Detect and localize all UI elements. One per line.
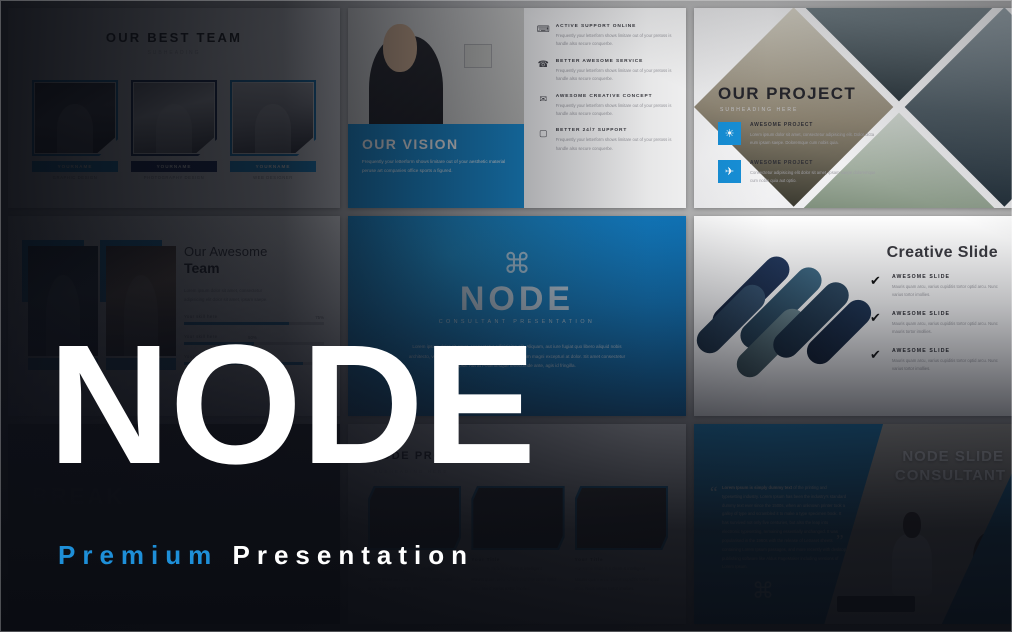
creative-body: Mauris quam arcu, varius cupiditis torto… xyxy=(892,357,998,374)
list-item[interactable]: ✈ AWESOME PROJECT Consectetur adipisicin… xyxy=(718,160,878,185)
consultant-heading-line2: CONSULTANT xyxy=(895,467,1006,484)
member-role: GRAPHIC DESIGN xyxy=(32,175,118,180)
check-icon: ✔ xyxy=(870,311,884,337)
slide-title: OUR VISION xyxy=(362,136,510,152)
list-item[interactable]: ⌨ ACTIVE SUPPORT ONLINE Frequently your … xyxy=(538,24,672,49)
tagline-main: Presentation xyxy=(233,540,475,570)
diagonal-bar-collage xyxy=(716,250,871,385)
card-heading: Awesome Slide is a clean & intelligent xyxy=(471,565,564,573)
project-card[interactable]: Your Title Awesome Slide is a clean & in… xyxy=(575,486,668,593)
member-photo xyxy=(32,80,118,156)
quote-lead: Lorem Ipsum is simply dummy text xyxy=(722,485,792,490)
slide-subtitle: SUBHEADING xyxy=(8,50,340,56)
slide-title: OUR PROJECT xyxy=(718,84,856,104)
slide-our-vision[interactable]: OUR VISION Frequently your letterform sh… xyxy=(348,8,686,208)
vision-photo: OUR VISION Frequently your letterform sh… xyxy=(348,8,524,208)
laptop-icon: ⌨ xyxy=(538,24,549,35)
list-item[interactable]: ✔ AWESOME SLIDE Mauris quam arcu, varius… xyxy=(870,348,998,374)
team-member-card[interactable]: YOURNAME PHOTOGRAPHY DESIGN xyxy=(131,80,217,180)
feature-body: Frequently your letterform shows limitar… xyxy=(556,32,672,49)
quote-text: Lorem Ipsum is simply dummy text of the … xyxy=(722,484,847,572)
list-item[interactable]: ☎ BETTER AWESOME SERVICE Frequently your… xyxy=(538,59,672,84)
headset-icon: ☎ xyxy=(538,59,549,70)
team-member-card[interactable]: YOURNAME WEB DESIGNER xyxy=(230,80,316,180)
card-body: Mauris quam arcu, varius cupiditis torto… xyxy=(471,576,564,593)
device-icon: ▢ xyxy=(538,128,549,139)
member-name-badge: YOURNAME xyxy=(32,161,118,172)
card-photo xyxy=(575,486,668,550)
rocket-icon: ✈ xyxy=(718,160,741,183)
feature-heading: BETTER 24/7 SUPPORT xyxy=(556,128,672,133)
slide-title: OUR BEST TEAM xyxy=(8,30,340,45)
project-body: Consectetur adipisicing elit dolor sit a… xyxy=(750,169,878,185)
list-item[interactable]: ✔ AWESOME SLIDE Mauris quam arcu, varius… xyxy=(870,311,998,337)
feature-heading: ACTIVE SUPPORT ONLINE xyxy=(556,24,672,29)
person-silhouette xyxy=(892,534,932,596)
card-body: Mauris quam arcu, varius cupiditis torto… xyxy=(575,576,668,593)
slide-subtitle: SUBHEADING HERE xyxy=(720,107,798,113)
creative-heading: AWESOME SLIDE xyxy=(892,311,998,317)
slide-title-line1: Our Awesome xyxy=(184,244,324,259)
team-member-row: YOURNAME GRAPHIC DESIGN YOURNAME PHOTOGR… xyxy=(26,80,322,180)
quote-body: of the printing and typesetting industry… xyxy=(722,485,846,569)
slide-node-consultant[interactable]: “ Lorem Ipsum is simply dummy text of th… xyxy=(694,424,1012,624)
list-item[interactable]: ▢ BETTER 24/7 SUPPORT Frequently your le… xyxy=(538,128,672,153)
check-icon: ✔ xyxy=(870,348,884,374)
slide-title: Creative Slide xyxy=(887,244,998,262)
vision-body: Frequently your letterform shows limitar… xyxy=(362,158,510,175)
tagline-accent: Premium xyxy=(58,540,218,570)
divider xyxy=(32,536,152,537)
card-label: Your Title xyxy=(471,557,564,562)
mail-icon: ✉ xyxy=(538,94,549,105)
list-item[interactable]: ✔ AWESOME SLIDE Mauris quam arcu, varius… xyxy=(870,274,998,300)
presentation-preview-banner: OUR BEST TEAM SUBHEADING YOURNAME GRAPHI… xyxy=(0,0,1012,632)
member-name-badge: YOURNAME xyxy=(131,161,217,172)
slide-title-line2: Team xyxy=(184,260,324,276)
creative-body: Mauris quam arcu, varius cupiditis torto… xyxy=(892,320,998,337)
feature-body: Frequently your letterform shows limitar… xyxy=(556,136,672,153)
feature-heading: AWESOME CREATIVE CONCEPT xyxy=(556,94,672,99)
slide-creative[interactable]: Creative Slide ✔ AWESOME SLIDE Mauris qu… xyxy=(694,216,1012,416)
close-quote-icon: ” xyxy=(836,532,844,549)
project-heading: AWESOME PROJECT xyxy=(750,122,878,128)
creative-heading: AWESOME SLIDE xyxy=(892,274,998,280)
card-label: Your Title xyxy=(575,557,668,562)
team-member-card[interactable]: YOURNAME GRAPHIC DESIGN xyxy=(32,80,118,180)
feature-body: Frequently your letterform shows limitar… xyxy=(556,102,672,119)
project-body: Lorem ipsum dolor sit amet, consectetur … xyxy=(750,131,878,147)
vision-feature-list: ⌨ ACTIVE SUPPORT ONLINE Frequently your … xyxy=(524,8,686,208)
member-name-badge: YOURNAME xyxy=(230,161,316,172)
awesome-team-body: Lorem ipsum dolor sit amet, consectetur … xyxy=(184,286,272,305)
member-photo xyxy=(230,80,316,156)
project-card[interactable]: Your Title Awesome Slide is a clean & in… xyxy=(471,486,564,593)
open-quote-icon: “ xyxy=(710,484,718,501)
keyboard-prop xyxy=(837,596,915,612)
hero-wordmark: NODE xyxy=(48,332,535,478)
creative-heading: AWESOME SLIDE xyxy=(892,348,998,354)
hero-tagline: Premium Presentation xyxy=(58,540,474,571)
member-role: PHOTOGRAPHY DESIGN xyxy=(131,175,217,180)
slide-our-best-team[interactable]: OUR BEST TEAM SUBHEADING YOURNAME GRAPHI… xyxy=(8,8,340,208)
slide-subtitle: SUBHEADING HERE xyxy=(34,516,127,522)
list-item[interactable]: ☀ AWESOME PROJECT Lorem ipsum dolor sit … xyxy=(718,122,878,147)
card-body: Mauris quam arcu, varius cupiditis torto… xyxy=(368,576,461,593)
node-logo-icon: ⌘ xyxy=(348,250,686,278)
project-heading: AWESOME PROJECT xyxy=(750,160,878,166)
consultant-heading-line1: NODE SLIDE xyxy=(902,448,1004,465)
check-icon: ✔ xyxy=(870,274,884,300)
feature-body: Frequently your letterform shows limitar… xyxy=(556,67,672,84)
list-item[interactable]: ✉ AWESOME CREATIVE CONCEPT Frequently yo… xyxy=(538,94,672,119)
creative-body: Mauris quam arcu, varius cupiditis torto… xyxy=(892,283,998,300)
lightbulb-icon: ☀ xyxy=(718,122,741,145)
feature-heading: BETTER AWESOME SERVICE xyxy=(556,59,672,64)
node-logo-icon: ⌘ xyxy=(752,580,774,602)
card-heading: Awesome Slide is a clean & intelligent xyxy=(575,565,668,573)
member-photo xyxy=(131,80,217,156)
slide-our-project[interactable]: OUR PROJECT SUBHEADING HERE ☀ AWESOME PR… xyxy=(694,8,1012,208)
vision-caption-band: OUR VISION Frequently your letterform sh… xyxy=(348,124,524,208)
member-role: WEB DESIGNER xyxy=(230,175,316,180)
